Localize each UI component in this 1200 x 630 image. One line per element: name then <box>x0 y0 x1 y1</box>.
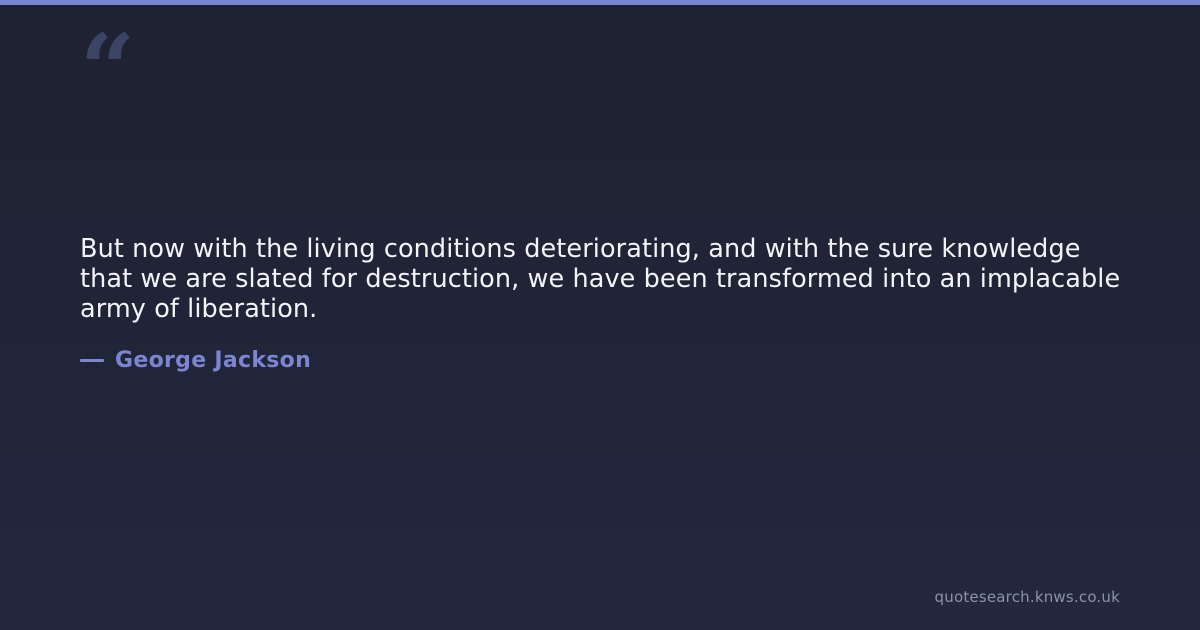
author-name: George Jackson <box>115 348 311 373</box>
quote-text: But now with the living conditions deter… <box>80 234 1125 324</box>
attribution: George Jackson <box>80 348 311 373</box>
quotation-mark-icon: “ <box>80 22 133 118</box>
site-url: quotesearch.knws.co.uk <box>935 588 1120 606</box>
quote-card: “ But now with the living conditions det… <box>0 0 1200 630</box>
attribution-dash-icon <box>80 359 104 362</box>
top-accent-bar <box>0 0 1200 5</box>
quote-body: But now with the living conditions deter… <box>80 234 1125 324</box>
